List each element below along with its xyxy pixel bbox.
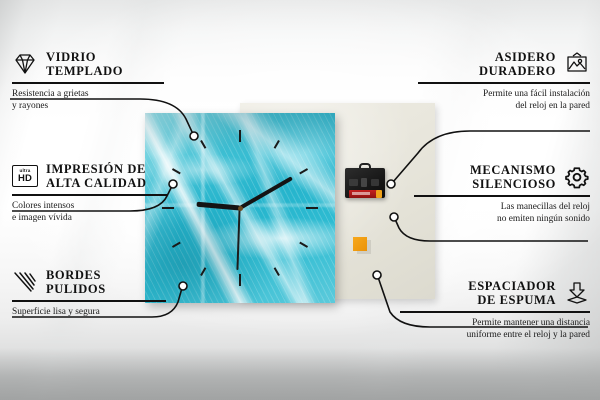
feature-rule <box>12 82 164 84</box>
feature-desc-line1: Superficie lisa y segura <box>12 306 166 318</box>
feature-desc-line1: Permite mantener una distancia <box>400 317 590 329</box>
feature-rule <box>12 300 166 302</box>
feature-title-line2: ALTA CALIDAD <box>46 176 147 190</box>
feature-description: Permite mantener una distancia uniforme … <box>400 317 590 342</box>
feature-desc-line1: Colores intensos <box>12 200 168 212</box>
feature-desc-line1: Las manecillas del reloj <box>414 201 590 213</box>
feature-rule <box>12 194 168 196</box>
feature-bordes-pulidos: BORDES PULIDOS Superficie lisa y segura <box>12 268 166 318</box>
connector-dot-right-middle <box>390 213 398 221</box>
feature-title-line1: IMPRESIÓN DE <box>46 162 147 176</box>
gear-icon <box>564 165 590 189</box>
feature-description: Resistencia a grietas y rayones <box>12 88 164 113</box>
feature-desc-line2: y rayones <box>12 100 164 112</box>
feature-rule <box>414 195 590 197</box>
connector-dot-left-bottom <box>179 282 187 290</box>
feature-title-line1: VIDRIO <box>46 50 123 64</box>
feature-description: Colores intensos e imagen vívida <box>12 200 168 225</box>
polished-edges-icon <box>12 270 38 294</box>
feature-title-line2: PULIDOS <box>46 282 106 296</box>
feature-title-line2: DE ESPUMA <box>468 293 556 307</box>
feature-description: Superficie lisa y segura <box>12 306 166 318</box>
infographic-stage: VIDRIO TEMPLADO Resistencia a grietas y … <box>0 0 600 400</box>
framed-picture-hanging-icon <box>564 52 590 76</box>
feature-title-line1: BORDES <box>46 268 106 282</box>
feature-desc-line2: no emiten ningún sonido <box>414 213 590 225</box>
feature-desc-line2: del reloj en la pared <box>418 100 590 112</box>
feature-mecanismo-silencioso: MECANISMO SILENCIOSO Las manecillas del … <box>414 163 590 225</box>
feature-description: Permite una fácil instalación del reloj … <box>418 88 590 113</box>
feature-title-line1: ESPACIADOR <box>468 279 556 293</box>
feature-desc-line2: uniforme entre el reloj y la pared <box>400 329 590 341</box>
feature-espaciador-de-espuma: ESPACIADOR DE ESPUMA Permite mantener un… <box>400 279 590 341</box>
feature-impresion-alta-calidad: ultra HD IMPRESIÓN DE ALTA CALIDAD Color… <box>12 162 168 224</box>
foam-spacer-arrow-icon <box>564 281 590 305</box>
feature-title-line1: ASIDERO <box>479 50 556 64</box>
feature-desc-line2: e imagen vívida <box>12 212 168 224</box>
feature-title-line2: DURADERO <box>479 64 556 78</box>
ultra-hd-badge-icon: ultra HD <box>12 165 38 187</box>
feature-desc-line1: Permite una fácil instalación <box>418 88 590 100</box>
hd-badge-main-label: HD <box>18 174 32 184</box>
feature-asidero-duradero: ASIDERO DURADERO Permite una fácil insta… <box>418 50 590 112</box>
connector-dot-left-middle <box>169 180 177 188</box>
feature-description: Las manecillas del reloj no emiten ningú… <box>414 201 590 226</box>
feature-title-line2: TEMPLADO <box>46 64 123 78</box>
feature-title-line2: SILENCIOSO <box>470 177 556 191</box>
connector-dot-right-top <box>387 180 395 188</box>
feature-rule <box>418 82 590 84</box>
diamond-icon <box>12 52 38 76</box>
feature-title-line1: MECANISMO <box>470 163 556 177</box>
feature-desc-line1: Resistencia a grietas <box>12 88 164 100</box>
feature-rule <box>400 311 590 313</box>
connector-dot-right-bottom <box>373 271 381 279</box>
connector-dot-left-top <box>190 132 198 140</box>
feature-vidrio-templado: VIDRIO TEMPLADO Resistencia a grietas y … <box>12 50 164 112</box>
